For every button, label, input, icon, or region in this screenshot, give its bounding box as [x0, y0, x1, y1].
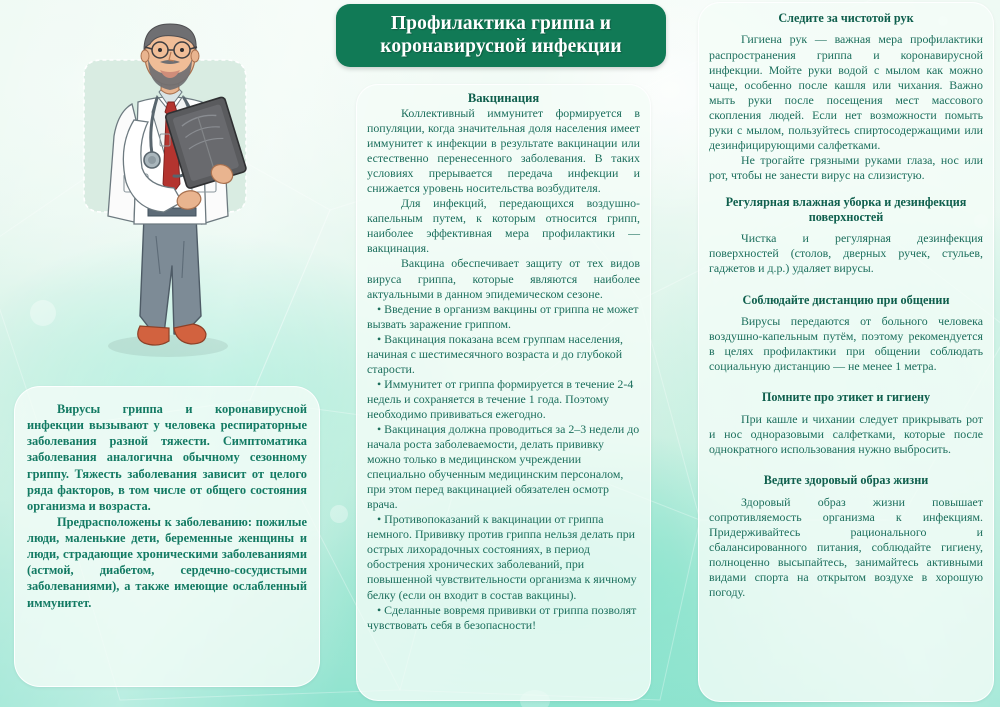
vaccination-paragraph-2: Для инфекций, передающихся воздушно-капе… — [367, 196, 640, 256]
vaccination-heading: Вакцинация — [367, 91, 640, 106]
social-distance-paragraph-1: Вирусы передаются от больного человека в… — [709, 314, 983, 374]
section-heading-social-distance: Соблюдайте дистанцию при общении — [709, 293, 983, 307]
surface-disinfection-paragraph-1: Чистка и регулярная дезинфекция поверхно… — [709, 231, 983, 276]
doctor-illustration — [56, 16, 286, 376]
vaccination-paragraph-1: Коллективный иммунитет формируется в поп… — [367, 106, 640, 196]
hand-hygiene-paragraph-1: Гигиена рук — важная мера профилактики р… — [709, 32, 983, 153]
left-info-card: Вирусы гриппа и коронавирусной инфекции … — [14, 386, 320, 687]
vaccination-paragraph-3: Вакцина обеспечивает защиту от тех видов… — [367, 256, 640, 301]
left-paragraph-1: Вирусы гриппа и коронавирусной инфекции … — [27, 401, 307, 514]
prevention-tips-card: Следите за чистотой рук Гигиена рук — ва… — [698, 2, 994, 702]
vaccination-bullet-6: • Сделанные вовремя прививки от гриппа п… — [367, 603, 640, 633]
illustration-panel — [0, 0, 336, 385]
etiquette-paragraph-1: При кашле и чихании следует прикрывать р… — [709, 412, 983, 457]
doctor-with-xray-icon — [56, 16, 286, 376]
hand-hygiene-paragraph-2: Не трогайте грязными руками глаза, нос и… — [709, 153, 983, 183]
vaccination-bullet-3: • Иммунитет от гриппа формируется в тече… — [367, 377, 640, 422]
section-heading-healthy-lifestyle: Ведите здоровый образ жизни — [709, 473, 983, 487]
poster-title-banner: Профилактика гриппа и коронавирусной инф… — [336, 4, 666, 67]
page-title: Профилактика гриппа и коронавирусной инф… — [336, 13, 666, 58]
section-heading-hand-hygiene: Следите за чистотой рук — [709, 11, 983, 25]
left-info-body: Вирусы гриппа и коронавирусной инфекции … — [27, 401, 307, 611]
healthy-lifestyle-paragraph-1: Здоровый образ жизни повышает сопротивля… — [709, 495, 983, 601]
vaccination-bullet-1: • Введение в организм вакцины от гриппа … — [367, 302, 640, 332]
section-heading-etiquette: Помните про этикет и гигиену — [709, 390, 983, 404]
poster-canvas: Профилактика гриппа и коронавирусной инф… — [0, 0, 1000, 707]
vaccination-bullet-5: • Противопоказаний к вакцинации от грипп… — [367, 512, 640, 602]
vaccination-bullet-4: • Вакцинация должна проводиться за 2–3 н… — [367, 422, 640, 512]
vaccination-card: Вакцинация Коллективный иммунитет формир… — [356, 84, 651, 701]
left-paragraph-2: Предрасположены к заболеванию: пожилые л… — [27, 514, 307, 611]
section-heading-surface-disinfection: Регулярная влажная уборка и дезинфекция … — [709, 195, 983, 224]
background-dot — [330, 505, 348, 523]
vaccination-bullet-2: • Вакцинация показана всем группам насел… — [367, 332, 640, 377]
